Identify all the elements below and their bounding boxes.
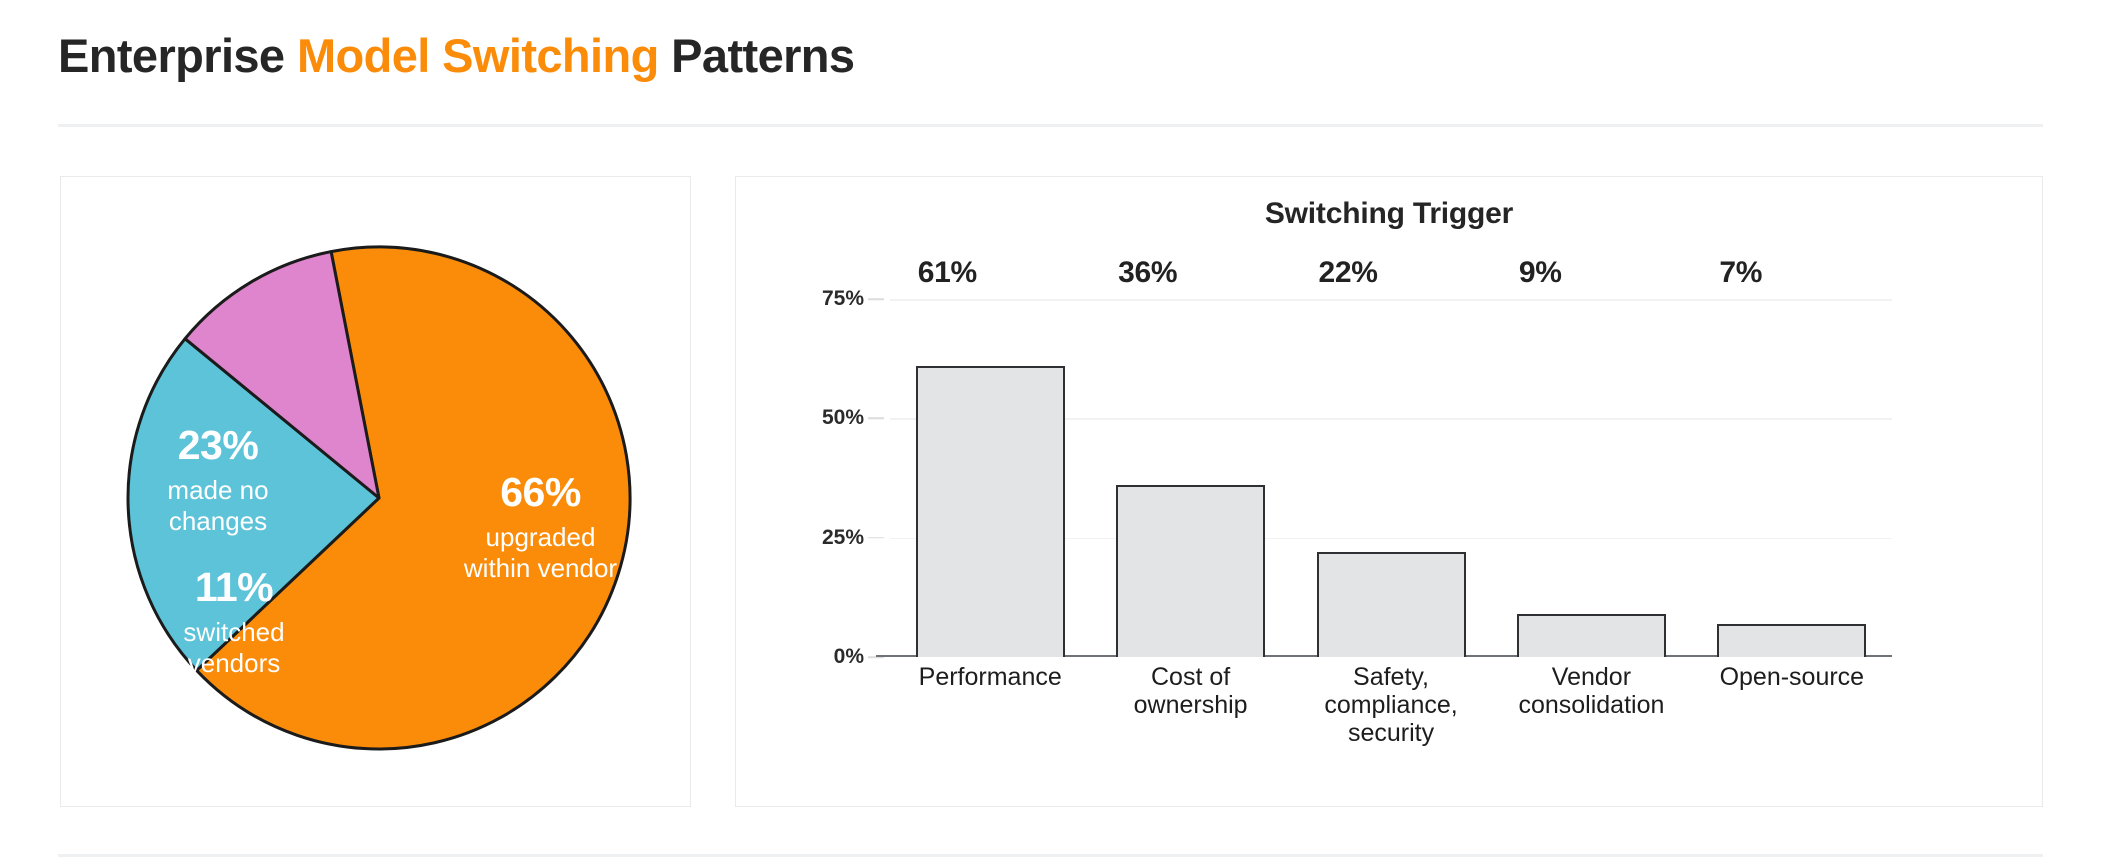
x-axis-category-label: Cost ofownership [1090, 663, 1290, 747]
footer-divider [58, 854, 2043, 857]
bar-column[interactable]: 61% [890, 299, 1090, 657]
x-axis-category-label: Performance [890, 663, 1090, 747]
gridline [890, 657, 1892, 659]
infographic-page: Enterprise Model Switching Patterns 66% … [0, 0, 2101, 864]
bar-value-label: 36% [1118, 256, 1177, 290]
bar[interactable]: 7% [1717, 624, 1866, 657]
bar-column[interactable]: 9% [1491, 299, 1691, 657]
bar[interactable]: 9% [1517, 614, 1666, 657]
y-axis-tick-mark [868, 418, 884, 420]
x-axis-category-label-line: consolidation [1495, 691, 1687, 719]
x-axis-category-label-line: ownership [1094, 691, 1286, 719]
y-axis-tick-label: 75% [822, 287, 864, 311]
page-title: Enterprise Model Switching Patterns [58, 28, 854, 83]
y-axis-tick-mark [868, 537, 884, 539]
pie-chart: 66% upgraded within vendor 23% made no c… [61, 177, 690, 806]
x-axis-category-label-line: Performance [894, 663, 1086, 691]
x-axis-category-labels: PerformanceCost ofownershipSafety,compli… [890, 663, 1892, 747]
bar[interactable]: 61% [916, 366, 1065, 657]
header-divider [58, 124, 2043, 127]
bar-column[interactable]: 7% [1692, 299, 1892, 657]
y-axis-tick-label: 0% [834, 645, 864, 669]
x-axis-category-label: Safety,compliance,security [1291, 663, 1491, 747]
bar-value-label: 22% [1319, 256, 1378, 290]
page-title-part2: Patterns [659, 29, 855, 82]
x-axis-category-label-line: Cost of [1094, 663, 1286, 691]
bar-value-label: 61% [918, 256, 977, 290]
bar-column[interactable]: 36% [1090, 299, 1290, 657]
y-axis-tick-label: 50% [822, 406, 864, 430]
bar-chart-panel: Switching Trigger 0%25%50%75% 61%36%22%9… [735, 176, 2043, 807]
x-axis-category-label-line: security [1295, 719, 1487, 747]
bar-series: 61%36%22%9%7% [890, 299, 1892, 657]
bar-chart-title: Switching Trigger [736, 197, 2042, 231]
pie-chart-svg [61, 177, 692, 806]
x-axis-category-label: Open-source [1692, 663, 1892, 747]
bar-column[interactable]: 22% [1291, 299, 1491, 657]
y-axis-tick-mark [868, 298, 884, 300]
x-axis-category-label: Vendorconsolidation [1491, 663, 1691, 747]
pie-chart-panel: 66% upgraded within vendor 23% made no c… [60, 176, 691, 807]
page-title-part1: Enterprise [58, 29, 297, 82]
bar[interactable]: 36% [1116, 485, 1265, 657]
page-title-accent: Model Switching [297, 29, 659, 82]
bar[interactable]: 22% [1317, 552, 1466, 657]
x-axis-category-label-line: compliance, [1295, 691, 1487, 719]
x-axis-category-label-line: Open-source [1696, 663, 1888, 691]
x-axis-category-label-line: Safety, [1295, 663, 1487, 691]
bar-value-label: 7% [1719, 256, 1762, 290]
y-axis-tick-label: 25% [822, 526, 864, 550]
x-axis-category-label-line: Vendor [1495, 663, 1687, 691]
bar-chart-plot: 0%25%50%75% 61%36%22%9%7% [890, 299, 1892, 657]
bar-value-label: 9% [1519, 256, 1562, 290]
